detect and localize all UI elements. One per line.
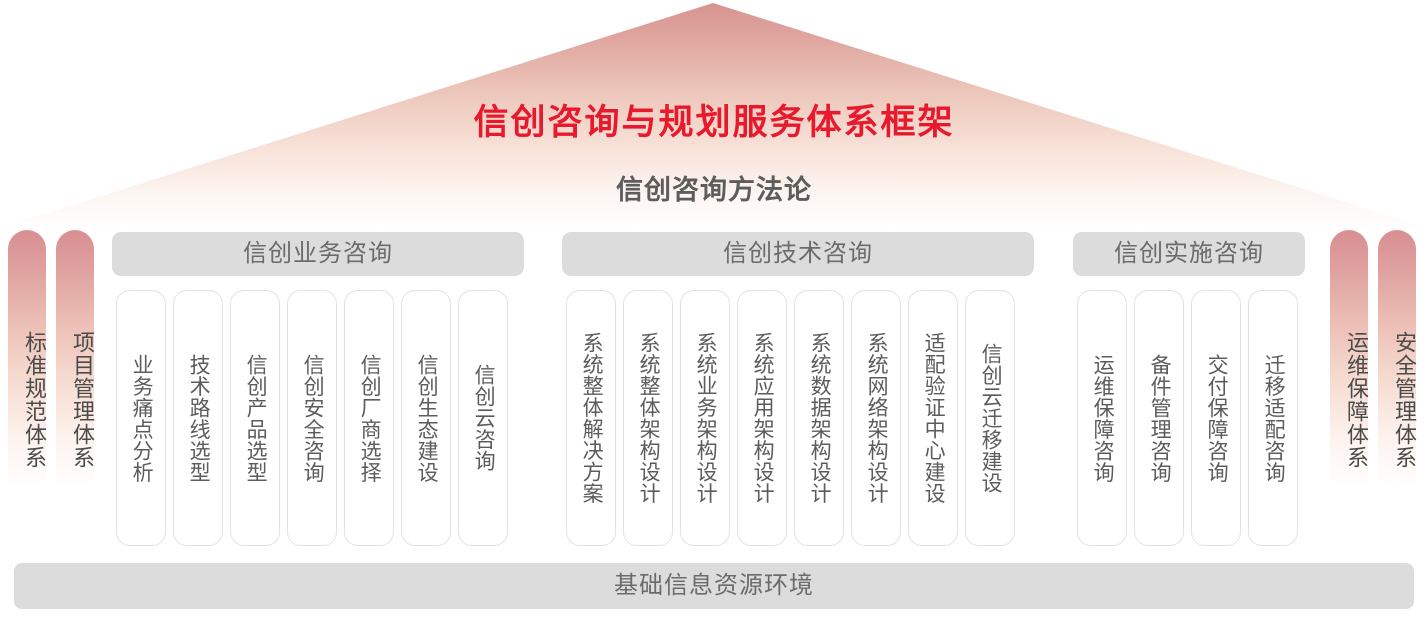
pillar-right-2-label: 安全管理体系 (1378, 300, 1416, 500)
card-technology-3-label: 系统业务架构设计 (694, 332, 716, 504)
card-technology-4-label: 系统应用架构设计 (751, 332, 773, 504)
card-technology-2-label: 系统整体架构设计 (637, 332, 659, 504)
pillar-right-1-label: 运维保障体系 (1330, 300, 1368, 500)
card-business-4[interactable]: 信创安全咨询 (287, 290, 337, 546)
card-technology-8[interactable]: 信创云迁移建设 (965, 290, 1015, 546)
card-business-3[interactable]: 信创产品选型 (230, 290, 280, 546)
card-business-5-label: 信创厂商选择 (358, 354, 380, 483)
pillar-left-2-label: 项目管理体系 (56, 300, 94, 500)
group-header-technology: 信创技术咨询 (562, 232, 1034, 276)
card-business-7[interactable]: 信创云咨询 (458, 290, 508, 546)
card-technology-6[interactable]: 系统网络架构设计 (851, 290, 901, 546)
pillar-left-1-label: 标准规范体系 (8, 300, 46, 500)
card-technology-5[interactable]: 系统数据架构设计 (794, 290, 844, 546)
sub-title: 信创咨询方法论 (0, 168, 1428, 207)
card-technology-3[interactable]: 系统业务架构设计 (680, 290, 730, 546)
card-technology-7[interactable]: 适配验证中心建设 (908, 290, 958, 546)
card-implementation-4[interactable]: 迁移适配咨询 (1248, 290, 1298, 546)
card-implementation-3[interactable]: 交付保障咨询 (1191, 290, 1241, 546)
card-technology-5-label: 系统数据架构设计 (808, 332, 830, 504)
card-technology-4[interactable]: 系统应用架构设计 (737, 290, 787, 546)
card-business-2[interactable]: 技术路线选型 (173, 290, 223, 546)
card-business-2-label: 技术路线选型 (187, 354, 209, 483)
card-technology-2[interactable]: 系统整体架构设计 (623, 290, 673, 546)
card-business-5[interactable]: 信创厂商选择 (344, 290, 394, 546)
card-technology-8-label: 信创云迁移建设 (979, 343, 1001, 494)
main-title: 信创咨询与规划服务体系框架 (0, 94, 1428, 145)
card-technology-1-label: 系统整体解决方案 (580, 332, 602, 504)
card-business-6-label: 信创生态建设 (415, 354, 437, 483)
card-business-7-label: 信创云咨询 (472, 364, 494, 472)
card-implementation-1[interactable]: 运维保障咨询 (1077, 290, 1127, 546)
diagram-canvas: 信创咨询与规划服务体系框架 信创咨询方法论 标准规范体系 项目管理体系 运维保障… (0, 0, 1428, 627)
foundation-bar: 基础信息资源环境 (14, 563, 1414, 609)
card-technology-7-label: 适配验证中心建设 (922, 332, 944, 504)
card-implementation-2-label: 备件管理咨询 (1148, 354, 1170, 483)
card-business-4-label: 信创安全咨询 (301, 354, 323, 483)
card-business-3-label: 信创产品选型 (244, 354, 266, 483)
card-business-6[interactable]: 信创生态建设 (401, 290, 451, 546)
card-implementation-2[interactable]: 备件管理咨询 (1134, 290, 1184, 546)
card-business-1[interactable]: 业务痛点分析 (116, 290, 166, 546)
card-implementation-4-label: 迁移适配咨询 (1262, 354, 1284, 483)
card-implementation-1-label: 运维保障咨询 (1091, 354, 1113, 483)
card-implementation-3-label: 交付保障咨询 (1205, 354, 1227, 483)
group-header-business: 信创业务咨询 (112, 232, 524, 276)
group-header-implementation: 信创实施咨询 (1073, 232, 1305, 276)
card-business-1-label: 业务痛点分析 (130, 354, 152, 483)
card-technology-1[interactable]: 系统整体解决方案 (566, 290, 616, 546)
card-technology-6-label: 系统网络架构设计 (865, 332, 887, 504)
